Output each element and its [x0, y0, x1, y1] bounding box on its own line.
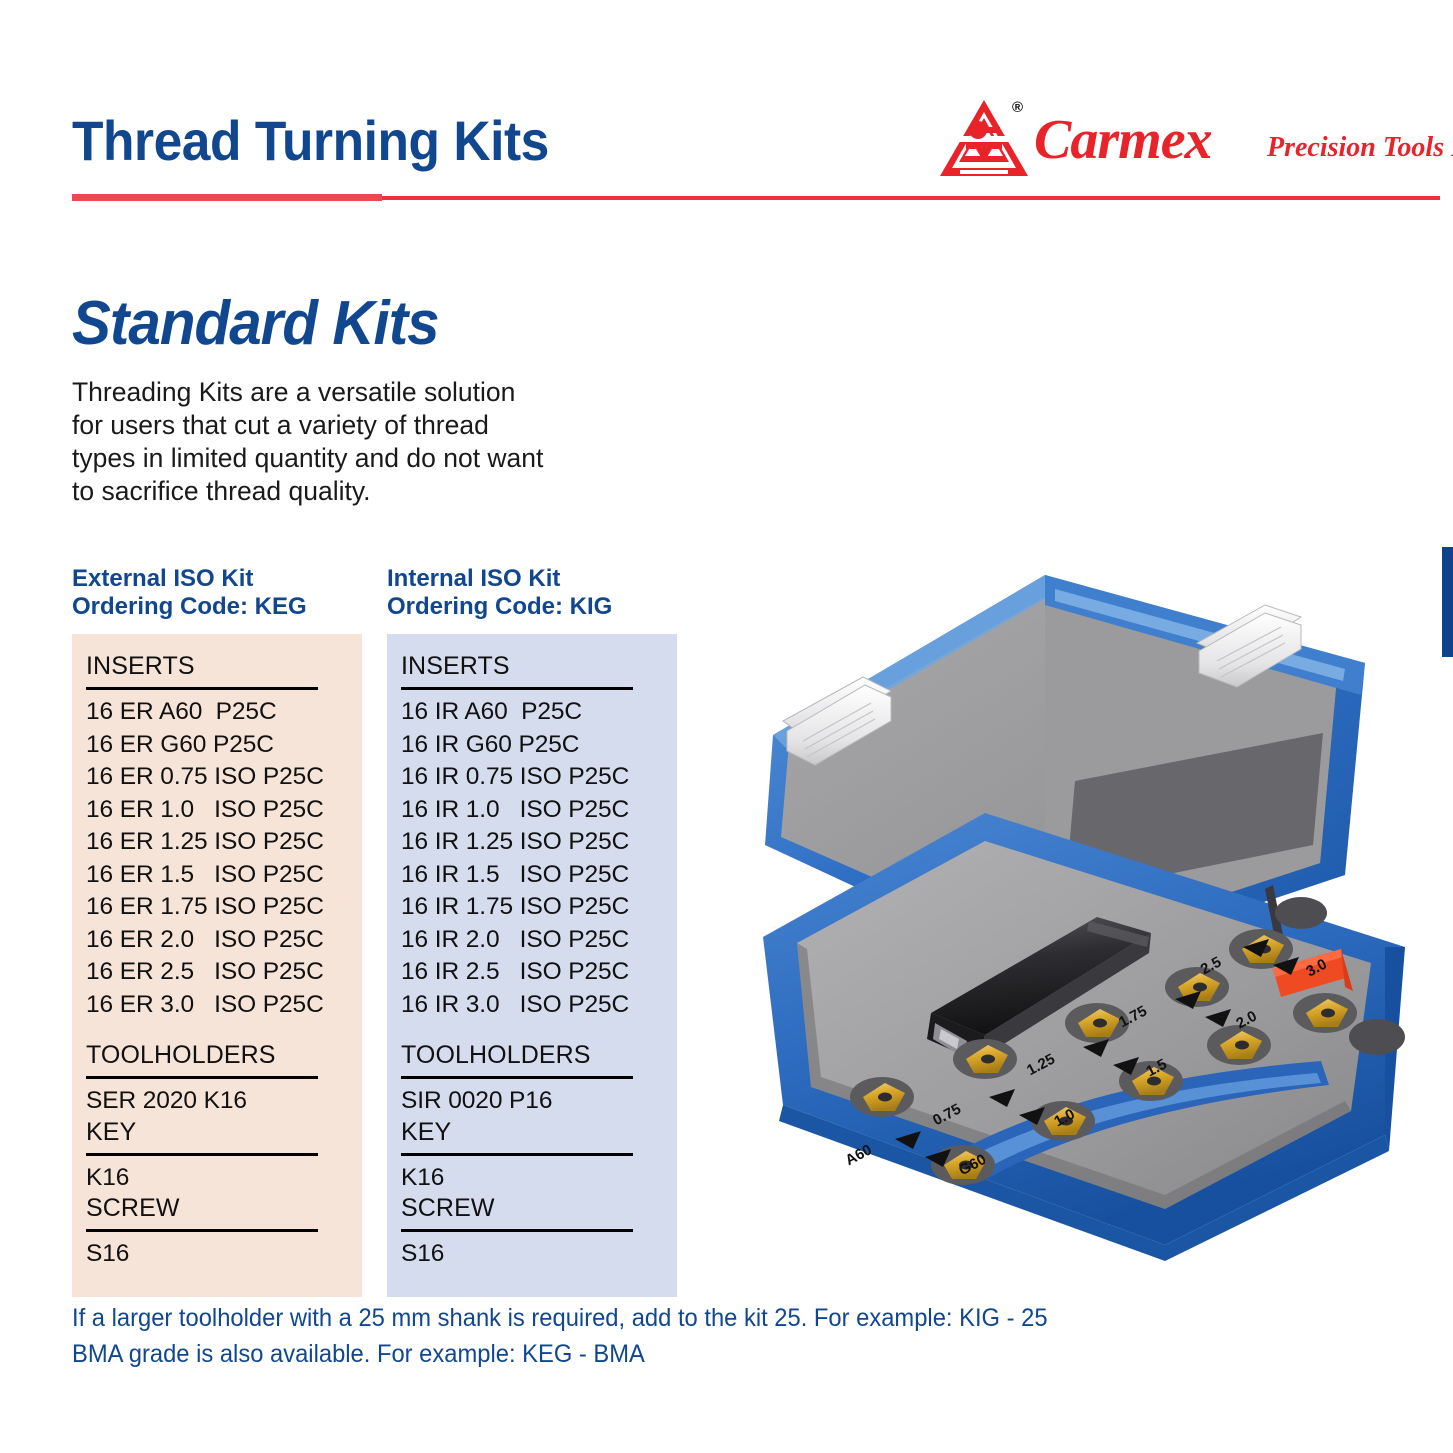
insert-row: 16 ER 1.25 ISO P25C [86, 826, 348, 859]
group-rule [401, 1076, 633, 1079]
group-rule [86, 687, 318, 690]
kit-heading-line2: Ordering Code: KIG [387, 593, 677, 621]
section-intro: Threading Kits are a versatile solution … [72, 376, 632, 508]
group-label-screw: SCREW [86, 1194, 348, 1225]
insert-row: 16 IR 1.25 ISO P25C [401, 826, 663, 859]
insert-row: 16 IR 1.0 ISO P25C [401, 794, 663, 827]
screw-row: S16 [401, 1238, 663, 1271]
carmex-logo: ® Carmex Precision Tools Ltd. [932, 92, 1442, 188]
kit-panel: INSERTS 16 ER A60 P25C 16 ER G60 P25C 16… [72, 634, 362, 1297]
insert-row: 16 ER 0.75 ISO P25C [86, 761, 348, 794]
page-title: Thread Turning Kits [72, 108, 549, 173]
insert-row: 16 IR 1.5 ISO P25C [401, 859, 663, 892]
logo-wordmark: Carmex [1034, 108, 1212, 172]
insert-row: 16 IR 3.0 ISO P25C [401, 989, 663, 1022]
insert-row: 16 ER 2.0 ISO P25C [86, 924, 348, 957]
section-title: Standard Kits [72, 288, 439, 359]
insert-row: 16 ER 1.75 ISO P25C [86, 891, 348, 924]
insert-row: 16 ER A60 P25C [86, 696, 348, 729]
group-label-screw: SCREW [401, 1194, 663, 1225]
group-rule [401, 687, 633, 690]
insert-row: 16 IR A60 P25C [401, 696, 663, 729]
insert-row: 16 IR 2.5 ISO P25C [401, 956, 663, 989]
kit-heading: External ISO Kit Ordering Code: KEG [72, 565, 362, 621]
insert-row: 16 ER 1.5 ISO P25C [86, 859, 348, 892]
intro-line: for users that cut a variety of thread [72, 409, 632, 442]
kit-external-iso: External ISO Kit Ordering Code: KEG INSE… [72, 565, 362, 1297]
intro-line: to sacrifice thread quality. [72, 475, 632, 508]
insert-row: 16 ER 2.5 ISO P25C [86, 956, 348, 989]
insert-row: 16 ER G60 P25C [86, 729, 348, 762]
group-label-key: KEY [401, 1118, 663, 1149]
kit-heading-line1: Internal ISO Kit [387, 565, 677, 593]
carmex-triangle-icon: ® [938, 96, 1030, 182]
intro-line: types in limited quantity and do not wan… [72, 442, 632, 475]
svg-text:®: ® [1012, 99, 1023, 116]
kit-panel: INSERTS 16 IR A60 P25C 16 IR G60 P25C 16… [387, 634, 677, 1297]
insert-row: 16 IR 2.0 ISO P25C [401, 924, 663, 957]
kit-heading-line2: Ordering Code: KEG [72, 593, 362, 621]
key-row: K16 [401, 1162, 663, 1195]
insert-row: 16 ER 3.0 ISO P25C [86, 989, 348, 1022]
screw-row: S16 [86, 1238, 348, 1271]
group-rule [401, 1229, 633, 1232]
group-rule [86, 1153, 318, 1156]
kit-internal-iso: Internal ISO Kit Ordering Code: KIG INSE… [387, 565, 677, 1297]
group-label-inserts: INSERTS [401, 652, 663, 683]
group-label-inserts: INSERTS [86, 652, 348, 683]
group-label-toolholders: TOOLHOLDERS [86, 1041, 348, 1072]
header-divider-rule-accent [72, 194, 382, 201]
intro-line: Threading Kits are a versatile solution [72, 376, 632, 409]
footer-note-line: BMA grade is also available. For example… [72, 1336, 1212, 1372]
page-root: Thread Turning Kits ® Carmex Precision T… [0, 0, 1453, 1453]
group-rule [401, 1153, 633, 1156]
insert-row: 16 IR 0.75 ISO P25C [401, 761, 663, 794]
footer-note-line: If a larger toolholder with a 25 mm shan… [72, 1300, 1212, 1336]
group-rule [86, 1229, 318, 1232]
kit-heading: Internal ISO Kit Ordering Code: KIG [387, 565, 677, 621]
key-row: K16 [86, 1162, 348, 1195]
kit-heading-line1: External ISO Kit [72, 565, 362, 593]
toolholder-row: SER 2020 K16 [86, 1085, 348, 1118]
insert-row: 16 IR G60 P25C [401, 729, 663, 762]
group-label-key: KEY [86, 1118, 348, 1149]
footer-note: If a larger toolholder with a 25 mm shan… [72, 1300, 1212, 1372]
group-rule [86, 1076, 318, 1079]
logo-tagline: Precision Tools Ltd. [1267, 132, 1453, 164]
product-photo-kit-case: A60 G60 0.75 1.0 1.25 [745, 545, 1445, 1275]
insert-row: 16 ER 1.0 ISO P25C [86, 794, 348, 827]
toolholder-row: SIR 0020 P16 [401, 1085, 663, 1118]
insert-row: 16 IR 1.75 ISO P25C [401, 891, 663, 924]
group-label-toolholders: TOOLHOLDERS [401, 1041, 663, 1072]
